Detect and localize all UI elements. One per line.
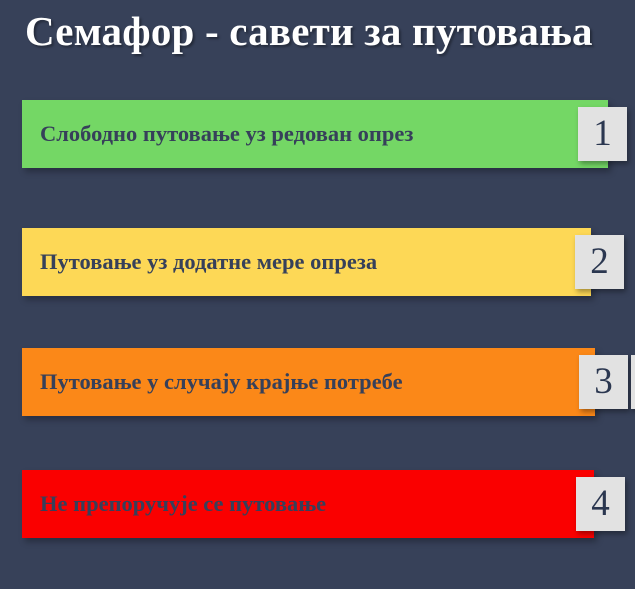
advice-label-4: Не препоручује се путовање [40, 470, 326, 538]
level-number-box-1: 1 [578, 107, 627, 161]
advice-row-4: Не препоручује се путовање 4 [0, 470, 635, 589]
advice-label-3: Путовање у случају крајње потребе [40, 348, 403, 416]
advice-bar-red[interactable]: Не препоручује се путовање [22, 470, 594, 538]
level-number-box-4: 4 [576, 477, 625, 531]
level-number-box-2: 2 [575, 235, 624, 289]
level-number-box-3: 3 [579, 355, 628, 409]
level-number-4: 4 [576, 477, 625, 531]
advice-bar-yellow[interactable]: Путовање уз додатне мере опреза [22, 228, 591, 296]
level-number-2: 2 [575, 235, 624, 289]
semaphore-travel-advice-poster: Семафор - савети за путовања Слободно пу… [0, 0, 635, 589]
advice-row-3: Путовање у случају крајње потребе 3 [0, 348, 635, 468]
level-number-1: 1 [578, 107, 627, 161]
level-number-3: 3 [579, 355, 628, 409]
advice-label-2: Путовање уз додатне мере опреза [40, 228, 377, 296]
page-title: Семафор - савети за путовања [25, 2, 625, 60]
advice-row-2: Путовање уз додатне мере опреза 2 [0, 228, 635, 348]
advice-bar-orange[interactable]: Путовање у случају крајње потребе [22, 348, 595, 416]
advice-row-1: Слободно путовање уз редован опрез 1 [0, 100, 635, 220]
level-number-box-3-overflow [631, 355, 635, 409]
advice-label-1: Слободно путовање уз редован опрез [40, 100, 413, 168]
advice-bar-green[interactable]: Слободно путовање уз редован опрез [22, 100, 608, 168]
